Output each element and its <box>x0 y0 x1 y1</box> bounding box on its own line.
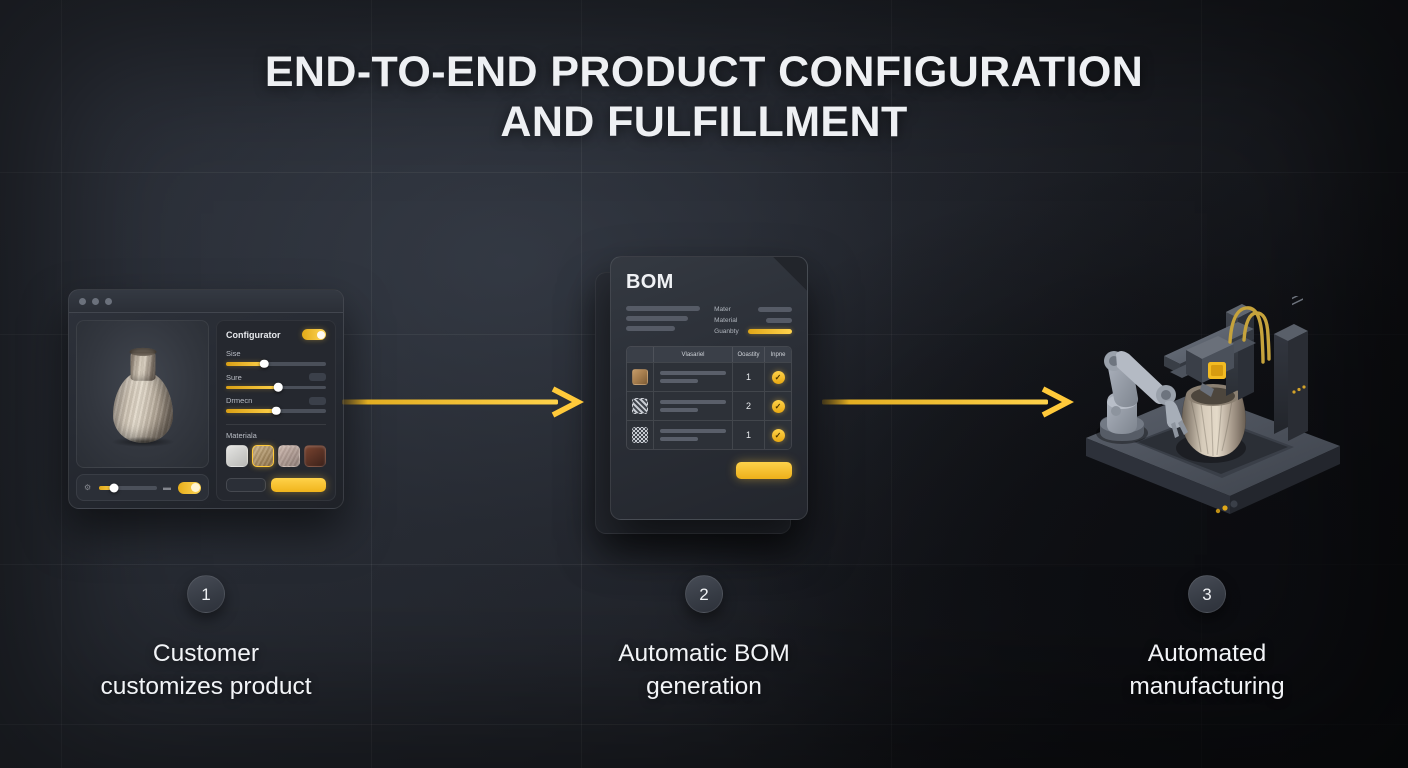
step-1: 1 Customer customizes product <box>46 575 366 704</box>
step-number-badge-2: 2 <box>685 575 723 613</box>
step-caption-2-line-2: generation <box>544 670 864 703</box>
step-caption-3-line-2: manufacturing <box>1047 670 1367 703</box>
step-caption-row: 1 Customer customizes product 2 Automati… <box>0 0 1408 768</box>
step-2: 2 Automatic BOM generation <box>544 575 864 704</box>
step-caption-3: Automated manufacturing <box>1047 637 1367 704</box>
step-caption-1: Customer customizes product <box>46 637 366 704</box>
step-3: 3 Automated manufacturing <box>1047 575 1367 704</box>
step-caption-2: Automatic BOM generation <box>544 637 864 704</box>
step-caption-1-line-1: Customer <box>46 637 366 670</box>
step-caption-3-line-1: Automated <box>1047 637 1367 670</box>
step-caption-1-line-2: customizes product <box>46 670 366 703</box>
step-caption-2-line-1: Automatic BOM <box>544 637 864 670</box>
slide-canvas: END-TO-END PRODUCT CONFIGURATION AND FUL… <box>0 0 1408 768</box>
step-number-badge-1: 1 <box>187 575 225 613</box>
step-number-badge-3: 3 <box>1188 575 1226 613</box>
